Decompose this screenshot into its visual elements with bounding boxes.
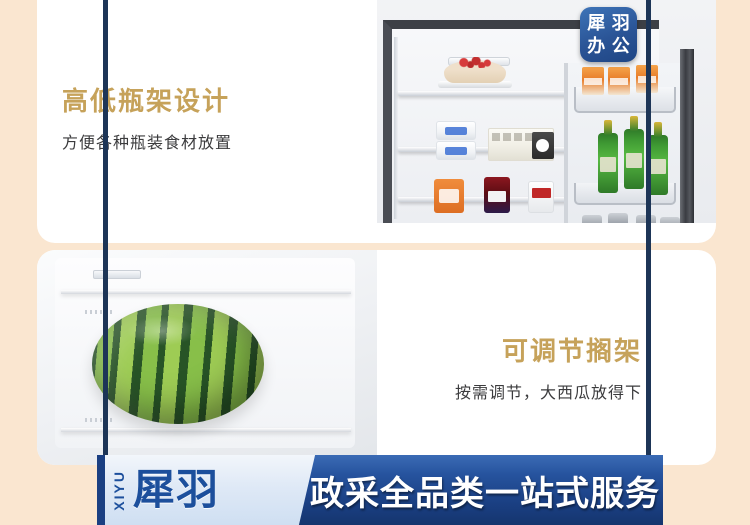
juice-can (582, 67, 604, 95)
feature-subheading: 方便各种瓶装食材放置 (62, 129, 232, 153)
watermelon-highlight (127, 316, 197, 346)
compartment-control-strip (93, 270, 141, 279)
orange-package (434, 179, 464, 213)
air-vent (85, 418, 113, 422)
brand-banner: XIYU 犀羽 政采全品类一站式服务 (97, 455, 663, 525)
badge-char-2: 羽 (612, 14, 630, 32)
feature-heading: 高低瓶架设计 (62, 86, 232, 117)
badge-char-4: 公 (612, 37, 630, 55)
juice-can (608, 67, 630, 95)
green-bottle (624, 129, 644, 189)
red-sauce-jar (484, 177, 510, 213)
product-detail-page: 高低瓶架设计 方便各种瓶装食材放置 可调节搁架 按需调节，大西瓜放得下 犀 羽 … (0, 0, 750, 525)
brand-name-en: XIYU (111, 470, 127, 511)
feature-text-adjustable-shelf: 可调节搁架 按需调节，大西瓜放得下 (420, 336, 642, 403)
white-jar (528, 181, 554, 213)
yoghurt-tub (436, 121, 476, 140)
refrigerator-interior-photo (377, 0, 716, 223)
brand-name-cn: 犀羽 (133, 469, 219, 511)
feature-text-bottle-rack: 高低瓶架设计 方便各种瓶装食材放置 (62, 86, 232, 153)
brand-logo-block[interactable]: XIYU 犀羽 (97, 455, 281, 525)
feature-subheading: 按需调节，大西瓜放得下 (420, 379, 642, 403)
grey-bottle (582, 215, 602, 223)
badge-char-1: 犀 (587, 14, 605, 32)
green-bottle (598, 133, 618, 193)
yoghurt-tub (436, 141, 476, 160)
banner-left-cap (97, 455, 105, 525)
frame-line-right (646, 0, 651, 525)
feature-heading: 可调节搁架 (420, 336, 642, 367)
green-bottle (648, 135, 668, 195)
shelf-rail (394, 37, 398, 219)
cake-strawberries (447, 57, 503, 68)
brand-slogan-block: 政采全品类一站式服务 (281, 455, 663, 525)
xiyu-office-badge[interactable]: 犀 羽 办 公 (580, 7, 637, 62)
badge-char-3: 办 (587, 37, 605, 55)
watermelon-in-refrigerator-photo (37, 250, 377, 465)
air-vent (85, 310, 113, 314)
door-edge (680, 49, 694, 223)
brand-slogan: 政采全品类一站式服务 (310, 466, 660, 515)
dark-food-box (532, 132, 554, 159)
grey-bottle (608, 213, 628, 223)
frame-line-left (103, 0, 108, 525)
grey-bottle (660, 217, 680, 223)
